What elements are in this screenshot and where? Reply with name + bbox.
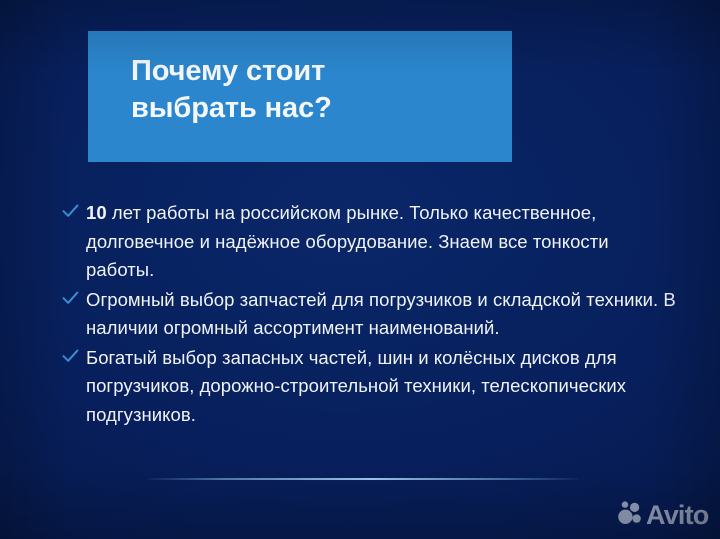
list-item-body: Богатый выбор запасных частей, шин и кол… bbox=[86, 347, 626, 425]
list-item: Огромный выбор запчастей для погрузчиков… bbox=[62, 286, 682, 343]
list-item-body: лет работы на российском рынке. Только к… bbox=[86, 202, 609, 280]
avito-watermark: Avito bbox=[617, 500, 709, 531]
list-item: 10 лет работы на российском рынке. Тольк… bbox=[62, 199, 682, 285]
list-item-label: Огромный выбор запчастей для погрузчиков… bbox=[86, 286, 682, 343]
list-item: Богатый выбор запасных частей, шин и кол… bbox=[62, 344, 682, 430]
list-item-body: Огромный выбор запчастей для погрузчиков… bbox=[86, 289, 676, 339]
check-icon bbox=[62, 286, 86, 305]
check-icon bbox=[62, 199, 86, 218]
avito-wordmark: Avito bbox=[646, 502, 709, 529]
list-item-label: 10 лет работы на российском рынке. Тольк… bbox=[86, 199, 682, 285]
benefits-list: 10 лет работы на российском рынке. Тольк… bbox=[62, 199, 682, 430]
page-title: Почему стоит выбрать нас? bbox=[131, 53, 491, 127]
divider bbox=[148, 478, 578, 480]
check-icon bbox=[62, 344, 86, 363]
avito-logo-icon bbox=[617, 500, 643, 531]
list-item-label: Богатый выбор запасных частей, шин и кол… bbox=[86, 344, 682, 430]
slide-canvas: Почему стоит выбрать нас? 10 лет работы … bbox=[0, 0, 720, 539]
list-item-lead: 10 bbox=[86, 202, 107, 223]
title-banner: Почему стоит выбрать нас? bbox=[88, 31, 512, 162]
